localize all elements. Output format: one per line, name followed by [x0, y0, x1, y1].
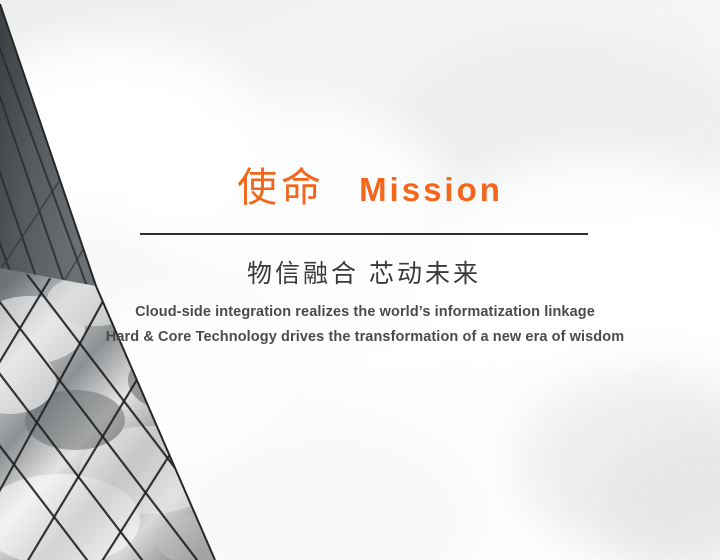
hero-content: 使命 Mission 物信融合 芯动未来 Cloud-side integrat…	[0, 0, 720, 560]
title-chinese: 使命	[237, 168, 325, 208]
title-divider	[140, 233, 588, 235]
title-english: Mission	[359, 173, 503, 206]
hero-title: 使命 Mission	[140, 168, 600, 208]
description-line-1: Cloud-side integration realizes the worl…	[100, 300, 630, 325]
description-line-2: Hard & Core Technology drives the transf…	[100, 325, 630, 350]
subtitle-chinese: 物信融合 芯动未来	[140, 259, 588, 290]
description-block: Cloud-side integration realizes the worl…	[100, 300, 630, 351]
hero-banner: 使命 Mission 物信融合 芯动未来 Cloud-side integrat…	[0, 0, 720, 560]
